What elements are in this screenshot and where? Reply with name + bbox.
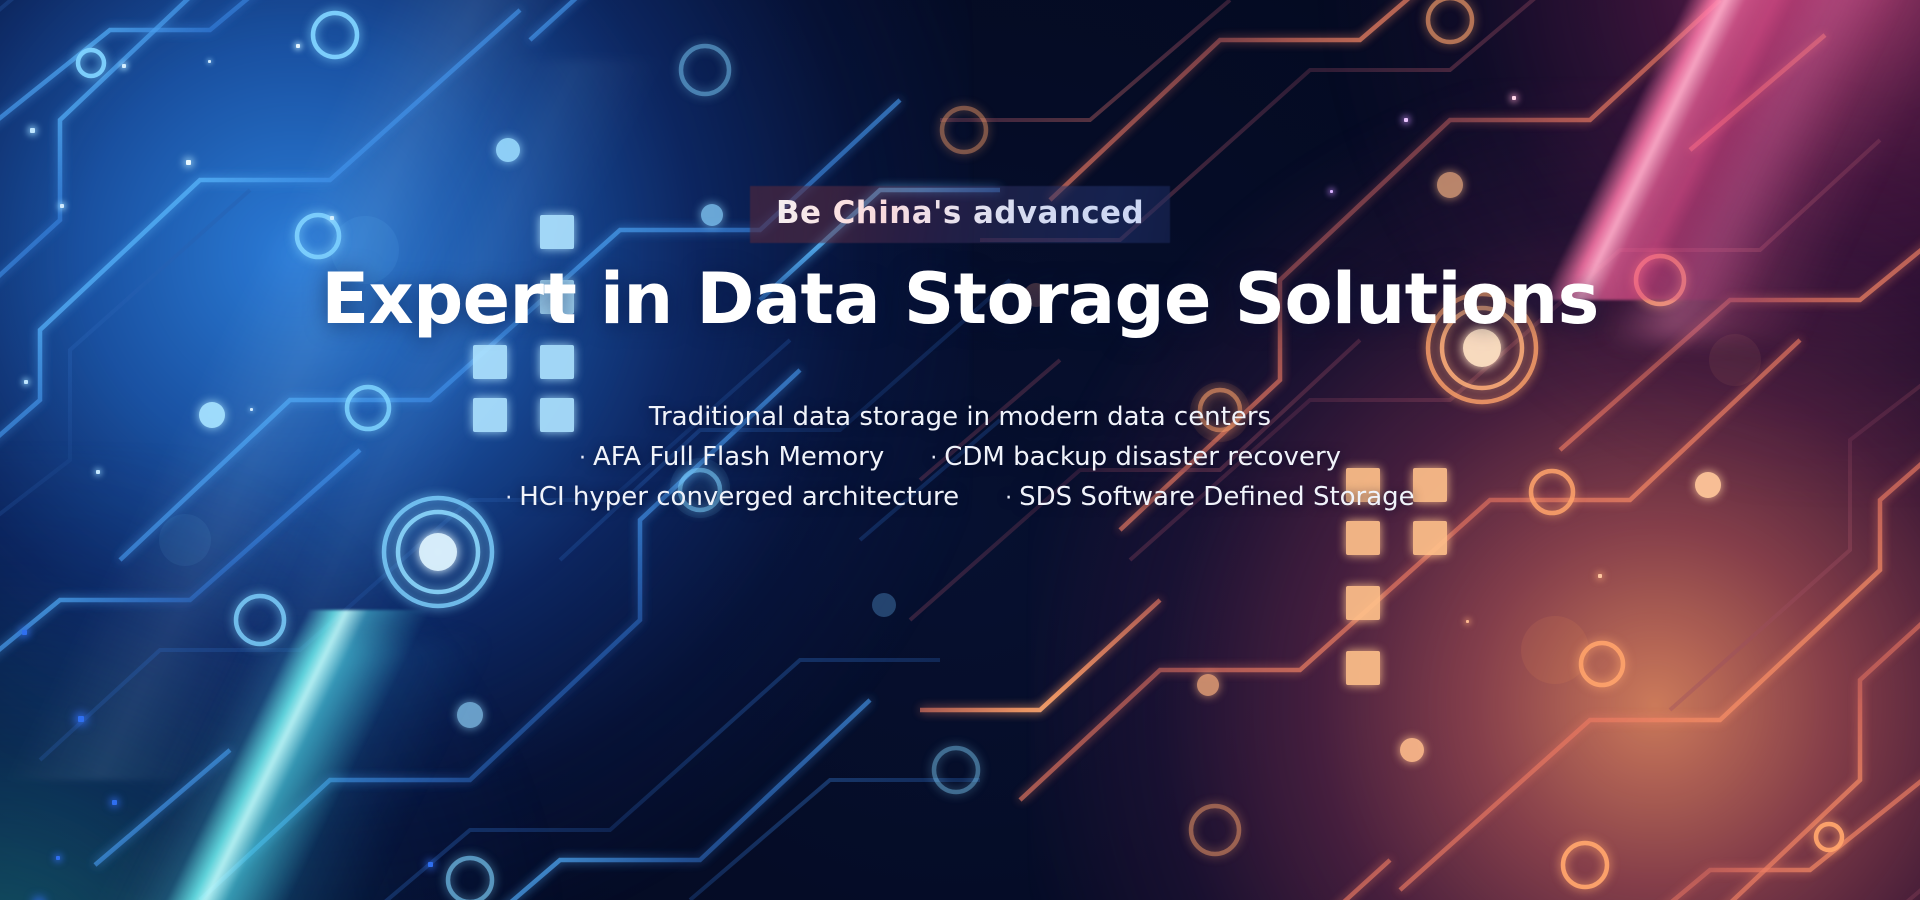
page-title: Expert in Data Storage Solutions: [321, 263, 1598, 336]
hero-content: Be China's advanced Expert in Data Stora…: [0, 0, 1920, 900]
feature-item-sds: ·SDS Software Defined Storage: [1005, 481, 1415, 514]
subtitle-block: Traditional data storage in modern data …: [505, 401, 1414, 515]
feature-item-hci: ·HCI hyper converged architecture: [505, 481, 959, 514]
feature-label: AFA Full Flash Memory: [593, 442, 884, 472]
bullet-icon: ·: [1005, 486, 1012, 511]
feature-row-1: ·AFA Full Flash Memory ·CDM backup disas…: [579, 441, 1341, 474]
feature-label: HCI hyper converged architecture: [519, 482, 959, 512]
feature-item-afa: ·AFA Full Flash Memory: [579, 441, 884, 474]
feature-item-cdm: ·CDM backup disaster recovery: [930, 441, 1341, 474]
hero-banner: Be China's advanced Expert in Data Stora…: [0, 0, 1920, 900]
bullet-icon: ·: [930, 446, 937, 471]
feature-row-2: ·HCI hyper converged architecture ·SDS S…: [505, 481, 1414, 514]
feature-label: CDM backup disaster recovery: [944, 442, 1341, 472]
feature-label: SDS Software Defined Storage: [1019, 482, 1415, 512]
bullet-icon: ·: [579, 446, 586, 471]
eyebrow-text: Be China's advanced: [776, 198, 1144, 229]
subtitle-text: Traditional data storage in modern data …: [649, 401, 1271, 434]
eyebrow-container: Be China's advanced: [750, 186, 1170, 243]
bullet-icon: ·: [505, 486, 512, 511]
